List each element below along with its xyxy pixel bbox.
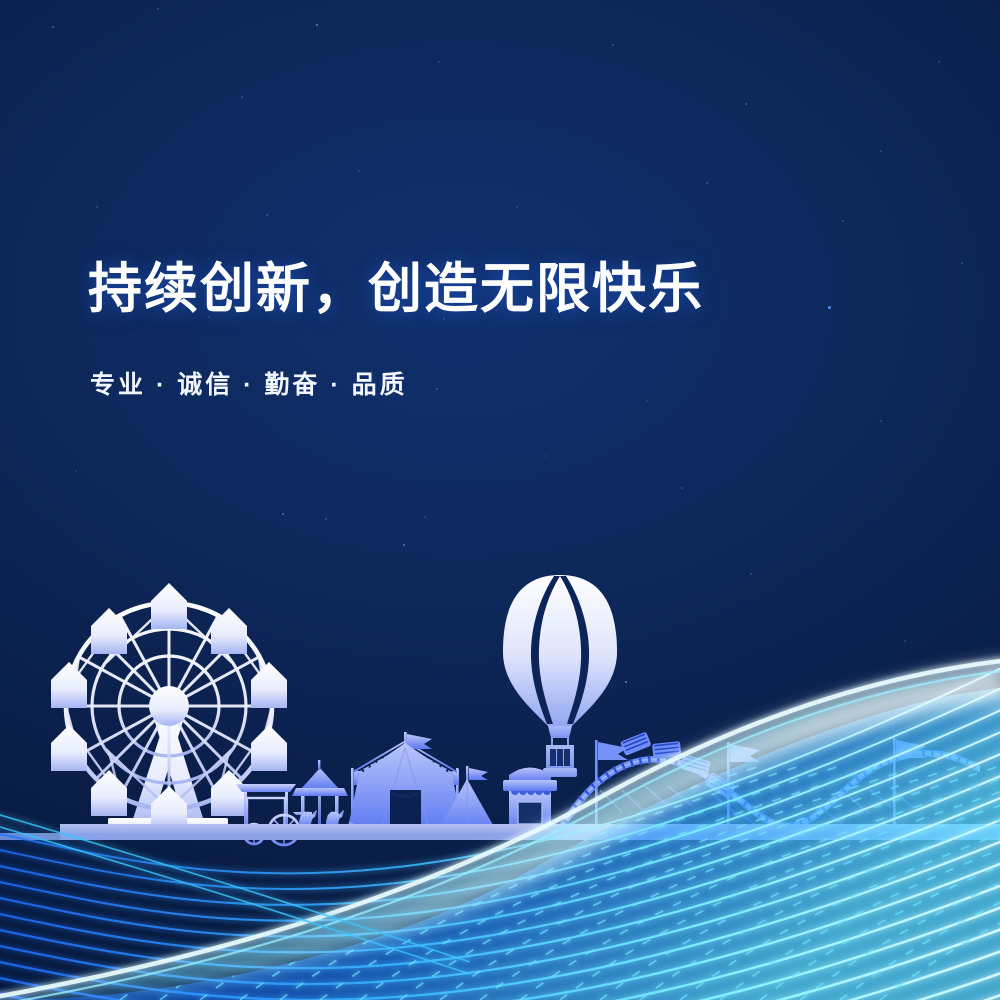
- banner-canvas: 持续创新，创造无限快乐 专业 · 诚信 · 勤奋 · 品质: [0, 0, 1000, 1000]
- tagline: 专业 · 诚信 · 勤奋 · 品质: [90, 365, 868, 401]
- page-title: 持续创新，创造无限快乐: [88, 258, 868, 321]
- glowing-wave-mesh: [0, 0, 1000, 1000]
- copy-block: 持续创新，创造无限快乐 专业 · 诚信 · 勤奋 · 品质: [88, 258, 868, 401]
